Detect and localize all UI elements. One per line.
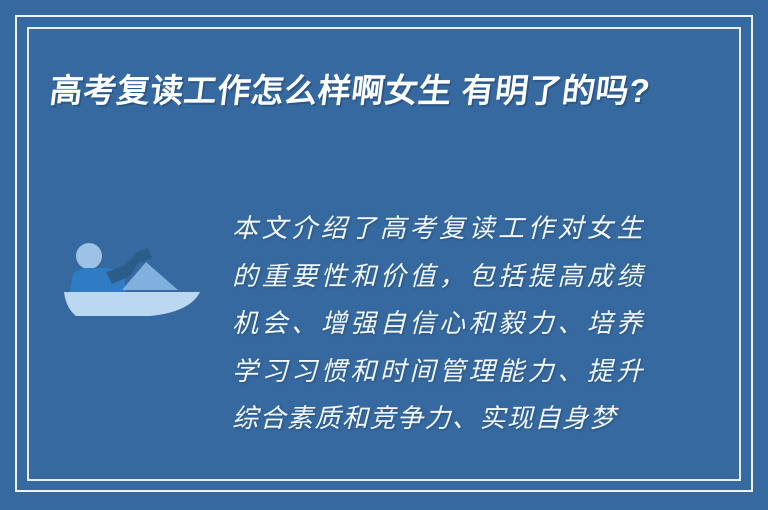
page-title: 高考复读工作怎么样啊女生 有明了的吗? — [47, 64, 694, 118]
illustration-head — [76, 243, 102, 269]
poster-canvas: 高考复读工作怎么样啊女生 有明了的吗? 本文介绍了高考复读工作对女生的重要性和价… — [0, 0, 768, 510]
illustration-hull — [64, 292, 200, 316]
person-rowing-boat-illustration — [62, 228, 212, 328]
body-paragraph: 本文介绍了高考复读工作对女生的重要性和价值，包括提高成绩机会、增强自信心和毅力、… — [232, 206, 644, 444]
